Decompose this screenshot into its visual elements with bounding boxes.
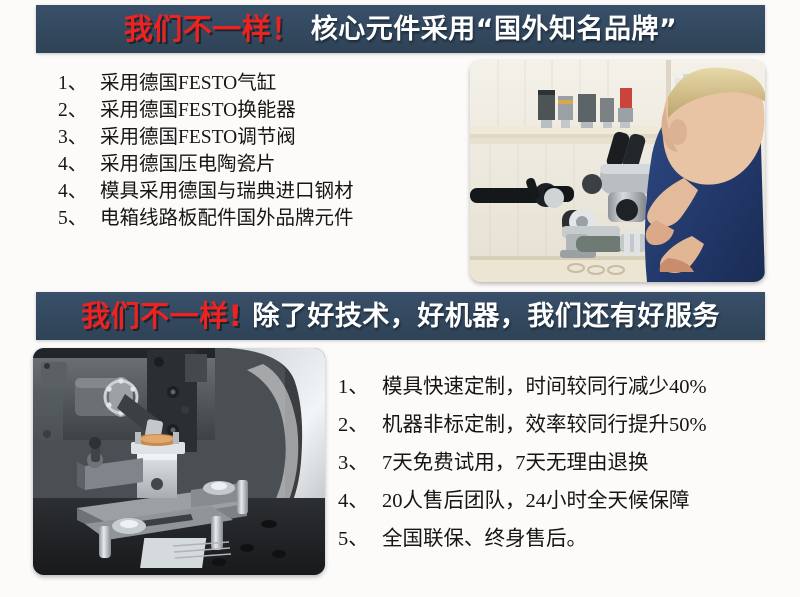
item-index: 4、 [58, 151, 100, 178]
item-index: 5、 [58, 205, 100, 232]
item-text: 采用德国FESTO气缸 [100, 70, 276, 97]
item-index: 4、 [338, 482, 382, 520]
section-one-banner: 我们不一样！ 核心元件采用“国外知名品牌” [36, 5, 765, 53]
photo-microscope-inspection [470, 60, 765, 282]
core-components-list: 1、 采用德国FESTO气缸 2、 采用德国FESTO换能器 3、 采用德国FE… [58, 70, 458, 232]
item-text: 机器非标定制，效率较同行提升50% [382, 406, 707, 444]
item-index: 2、 [338, 406, 382, 444]
item-index: 3、 [58, 124, 100, 151]
item-text: 采用德国FESTO换能器 [100, 97, 296, 124]
list-item: 5、 全国联保、终身售后。 [338, 520, 788, 558]
item-text: 模具快速定制，时间较同行减少40% [382, 368, 707, 406]
microscope-scene-illustration [470, 60, 765, 282]
item-text: 全国联保、终身售后。 [382, 520, 587, 558]
service-advantages-list: 1、 模具快速定制，时间较同行减少40% 2、 机器非标定制，效率较同行提升50… [338, 368, 788, 558]
section-two-banner: 我们不一样! 除了好技术，好机器，我们还有好服务 [36, 292, 765, 340]
item-text: 7天免费试用，7天无理由退换 [382, 444, 649, 482]
list-item: 4、 20人售后团队，24小时全天候保障 [338, 482, 788, 520]
list-item: 3、 采用德国FESTO调节阀 [58, 124, 458, 151]
item-index: 2、 [58, 97, 100, 124]
banner-highlight-two: 我们不一样! [81, 302, 242, 331]
machine-fixture-illustration [33, 348, 325, 575]
item-index: 4、 [58, 178, 100, 205]
list-item: 2、 采用德国FESTO换能器 [58, 97, 458, 124]
list-item: 3、 7天免费试用，7天无理由退换 [338, 444, 788, 482]
list-item: 1、 模具快速定制，时间较同行减少40% [338, 368, 788, 406]
item-text: 电箱线路板配件国外品牌元件 [100, 205, 354, 232]
photo-welding-fixture [33, 348, 325, 575]
item-text: 模具采用德国与瑞典进口钢材 [100, 178, 354, 205]
banner-title-one: 核心元件采用“国外知名品牌” [311, 16, 678, 43]
promo-page: 我们不一样！ 核心元件采用“国外知名品牌” [0, 0, 800, 597]
banner-title-two: 除了好技术，好机器，我们还有好服务 [252, 303, 720, 330]
banner-highlight-one: 我们不一样！ [124, 15, 301, 44]
item-text: 采用德国压电陶瓷片 [100, 151, 276, 178]
list-item: 2、 机器非标定制，效率较同行提升50% [338, 406, 788, 444]
item-text: 采用德国FESTO调节阀 [100, 124, 296, 151]
list-item: 4、 模具采用德国与瑞典进口钢材 [58, 178, 458, 205]
item-index: 1、 [338, 368, 382, 406]
item-index: 1、 [58, 70, 100, 97]
list-item: 4、 采用德国压电陶瓷片 [58, 151, 458, 178]
list-item: 1、 采用德国FESTO气缸 [58, 70, 458, 97]
list-item: 5、 电箱线路板配件国外品牌元件 [58, 205, 458, 232]
item-index: 5、 [338, 520, 382, 558]
item-index: 3、 [338, 444, 382, 482]
item-text: 20人售后团队，24小时全天候保障 [382, 482, 690, 520]
